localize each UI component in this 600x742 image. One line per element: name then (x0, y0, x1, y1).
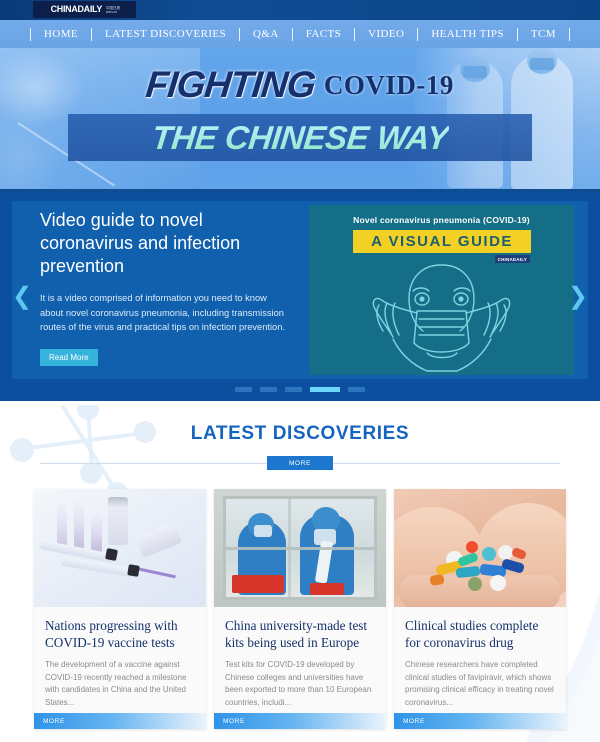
carousel-dot-3[interactable] (285, 387, 302, 392)
slide-heading: Video guide to novel coronavirus and inf… (40, 209, 288, 278)
logo-sub-bottom: com.cn (106, 10, 120, 14)
carousel-dot-5[interactable] (348, 387, 365, 392)
card-body: Nations progressing with COVID-19 vaccin… (34, 607, 206, 713)
slide-text-block: Video guide to novel coronavirus and inf… (40, 209, 288, 366)
cabinet-mullion (288, 499, 291, 597)
carousel-prev-icon[interactable]: ❮ (12, 285, 32, 309)
carousel-slide: Video guide to novel coronavirus and inf… (12, 201, 588, 379)
section-title: LATEST DISCOVERIES (0, 401, 600, 445)
card-heading: China university-made test kits being us… (225, 617, 375, 651)
lab-mask-icon (254, 525, 272, 537)
nav-items: HOME LATEST DISCOVERIES Q&A FACTS VIDEO … (30, 28, 570, 41)
carousel-dot-2[interactable] (260, 387, 277, 392)
main-navigation: HOME LATEST DISCOVERIES Q&A FACTS VIDEO … (0, 20, 600, 48)
nav-divider (517, 28, 518, 41)
thumbnail-kicker: Novel coronavirus pneumonia (COVID-19) (309, 215, 574, 225)
hero-title-band: THE CHINESE WAY (68, 114, 532, 161)
top-bar: CHINADAILY 中国日报 com.cn (0, 0, 600, 20)
needle-icon (134, 567, 176, 579)
biosafety-cabinet (223, 496, 377, 600)
hero-title-line-1: FIGHTINGCOVID-19 (0, 64, 600, 106)
list-item[interactable]: Clinical studies complete for coronaviru… (394, 489, 566, 729)
card-more-button[interactable]: MORE (34, 713, 206, 729)
card-excerpt: The development of a vaccine against COV… (45, 659, 195, 709)
list-item[interactable]: China university-made test kits being us… (214, 489, 386, 729)
vial-icon (74, 500, 84, 553)
card-body: Clinical studies complete for coronaviru… (394, 607, 566, 713)
nav-divider (91, 28, 92, 41)
card-image-lab (214, 489, 386, 607)
card-more-label: MORE (214, 718, 245, 725)
vial-icon (108, 497, 128, 545)
card-more-button[interactable]: MORE (394, 713, 566, 729)
sample-rack-icon (232, 575, 284, 593)
card-heading: Clinical studies complete for coronaviru… (405, 617, 555, 651)
vial-icon (135, 522, 182, 558)
card-heading: Nations progressing with COVID-19 vaccin… (45, 617, 195, 651)
read-more-button[interactable]: Read More (40, 349, 98, 366)
cards-list: Nations progressing with COVID-19 vaccin… (0, 489, 600, 729)
sample-rack-icon (310, 583, 344, 595)
nav-divider (354, 28, 355, 41)
pill-icon (466, 541, 478, 553)
thumbnail-title: A VISUAL GUIDE (371, 233, 513, 250)
section-rule-wrap: MORE (40, 456, 560, 470)
pill-icon (490, 575, 506, 591)
carousel-next-icon[interactable]: ❯ (568, 285, 588, 309)
nav-item-latest-discoveries[interactable]: LATEST DISCOVERIES (92, 28, 239, 40)
logo-subtext: 中国日报 com.cn (106, 6, 120, 14)
plunger-icon (127, 564, 140, 577)
hero-banner: FIGHTINGCOVID-19 THE CHINESE WAY (0, 48, 600, 193)
pill-icon (468, 577, 482, 591)
card-image-vaccine (34, 489, 206, 607)
card-image-pills (394, 489, 566, 607)
latest-discoveries-section: LATEST DISCOVERIES MORE (0, 401, 600, 742)
card-more-label: MORE (34, 718, 65, 725)
hero-title-line-2: THE CHINESE WAY (150, 119, 450, 157)
hero-word-covid19: COVID-19 (324, 70, 454, 101)
card-excerpt: Test kits for COVID-19 developed by Chin… (225, 659, 375, 709)
nav-item-video[interactable]: VIDEO (355, 28, 417, 40)
chinadaily-logo[interactable]: CHINADAILY 中国日报 com.cn (33, 1, 136, 18)
nav-item-qa[interactable]: Q&A (240, 28, 292, 40)
section-more-button[interactable]: MORE (267, 456, 333, 470)
card-body: China university-made test kits being us… (214, 607, 386, 713)
list-item[interactable]: Nations progressing with COVID-19 vaccin… (34, 489, 206, 729)
nav-divider (417, 28, 418, 41)
nav-divider (30, 28, 31, 41)
hero-word-fighting: FIGHTING (144, 64, 317, 106)
pill-icon (482, 547, 496, 561)
card-more-label: MORE (394, 718, 425, 725)
card-excerpt: Chinese researchers have completed clini… (405, 659, 555, 709)
logo-wordmark: CHINADAILY (51, 4, 102, 15)
slide-body: It is a video comprised of information y… (40, 291, 288, 335)
thumbnail-title-band: A VISUAL GUIDE (353, 230, 531, 253)
carousel-dots (0, 387, 600, 392)
nav-item-home[interactable]: HOME (31, 28, 91, 40)
nav-item-tcm[interactable]: TCM (518, 28, 569, 40)
cabinet-crossbar (226, 547, 374, 550)
feature-carousel: Video guide to novel coronavirus and inf… (0, 193, 600, 401)
card-more-button[interactable]: MORE (214, 713, 386, 729)
nav-item-health-tips[interactable]: HEALTH TIPS (418, 28, 517, 40)
nav-divider (292, 28, 293, 41)
carousel-dot-4[interactable] (310, 387, 340, 392)
nav-divider (239, 28, 240, 41)
carousel-dot-1[interactable] (235, 387, 252, 392)
page-root: CHINADAILY 中国日报 com.cn HOME LATEST DISCO… (0, 0, 600, 742)
nav-item-facts[interactable]: FACTS (293, 28, 354, 40)
mask-illustration-icon (309, 261, 574, 375)
plunger-icon (105, 548, 118, 561)
video-thumbnail[interactable]: Novel coronavirus pneumonia (COVID-19) A… (309, 205, 574, 375)
nav-divider (569, 28, 570, 41)
